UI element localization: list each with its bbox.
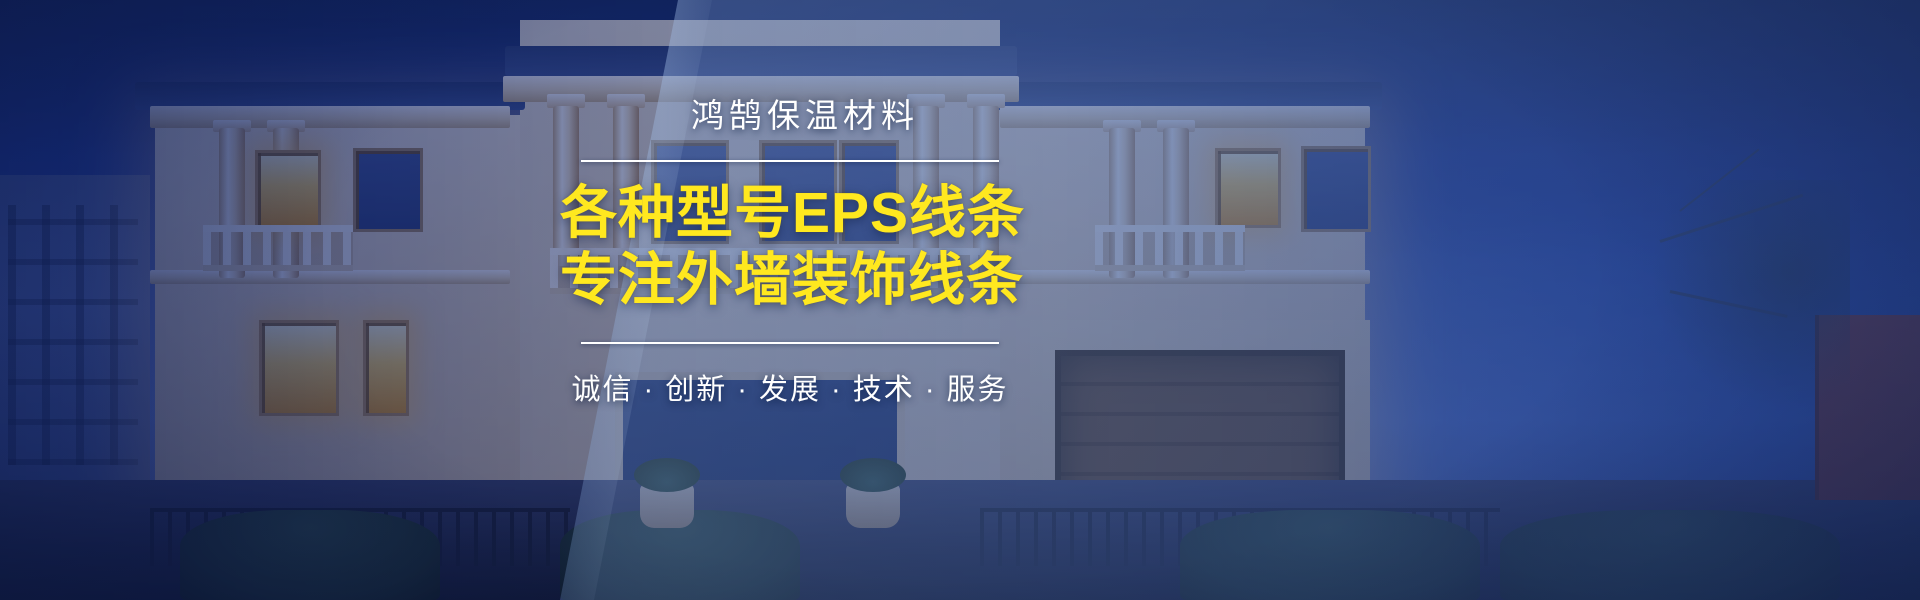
brand-eyebrow: 鸿鹄保温材料 [560,96,1020,136]
hero-banner: 鸿鹄保温材料 各种型号EPS线条 专注外墙装饰线条 诚信 · 创新 · 发展 ·… [0,0,1920,600]
divider-bottom [581,342,999,344]
headline-line-1: 各种型号EPS线条 [560,180,1020,247]
headline-block: 各种型号EPS线条 专注外墙装饰线条 [560,180,1020,315]
headline-line-2: 专注外墙装饰线条 [560,247,1020,314]
tagline: 诚信 · 创新 · 发展 · 技术 · 服务 [560,366,1020,408]
banner-copy: 鸿鹄保温材料 各种型号EPS线条 专注外墙装饰线条 诚信 · 创新 · 发展 ·… [560,96,1020,408]
divider-top [581,160,999,162]
